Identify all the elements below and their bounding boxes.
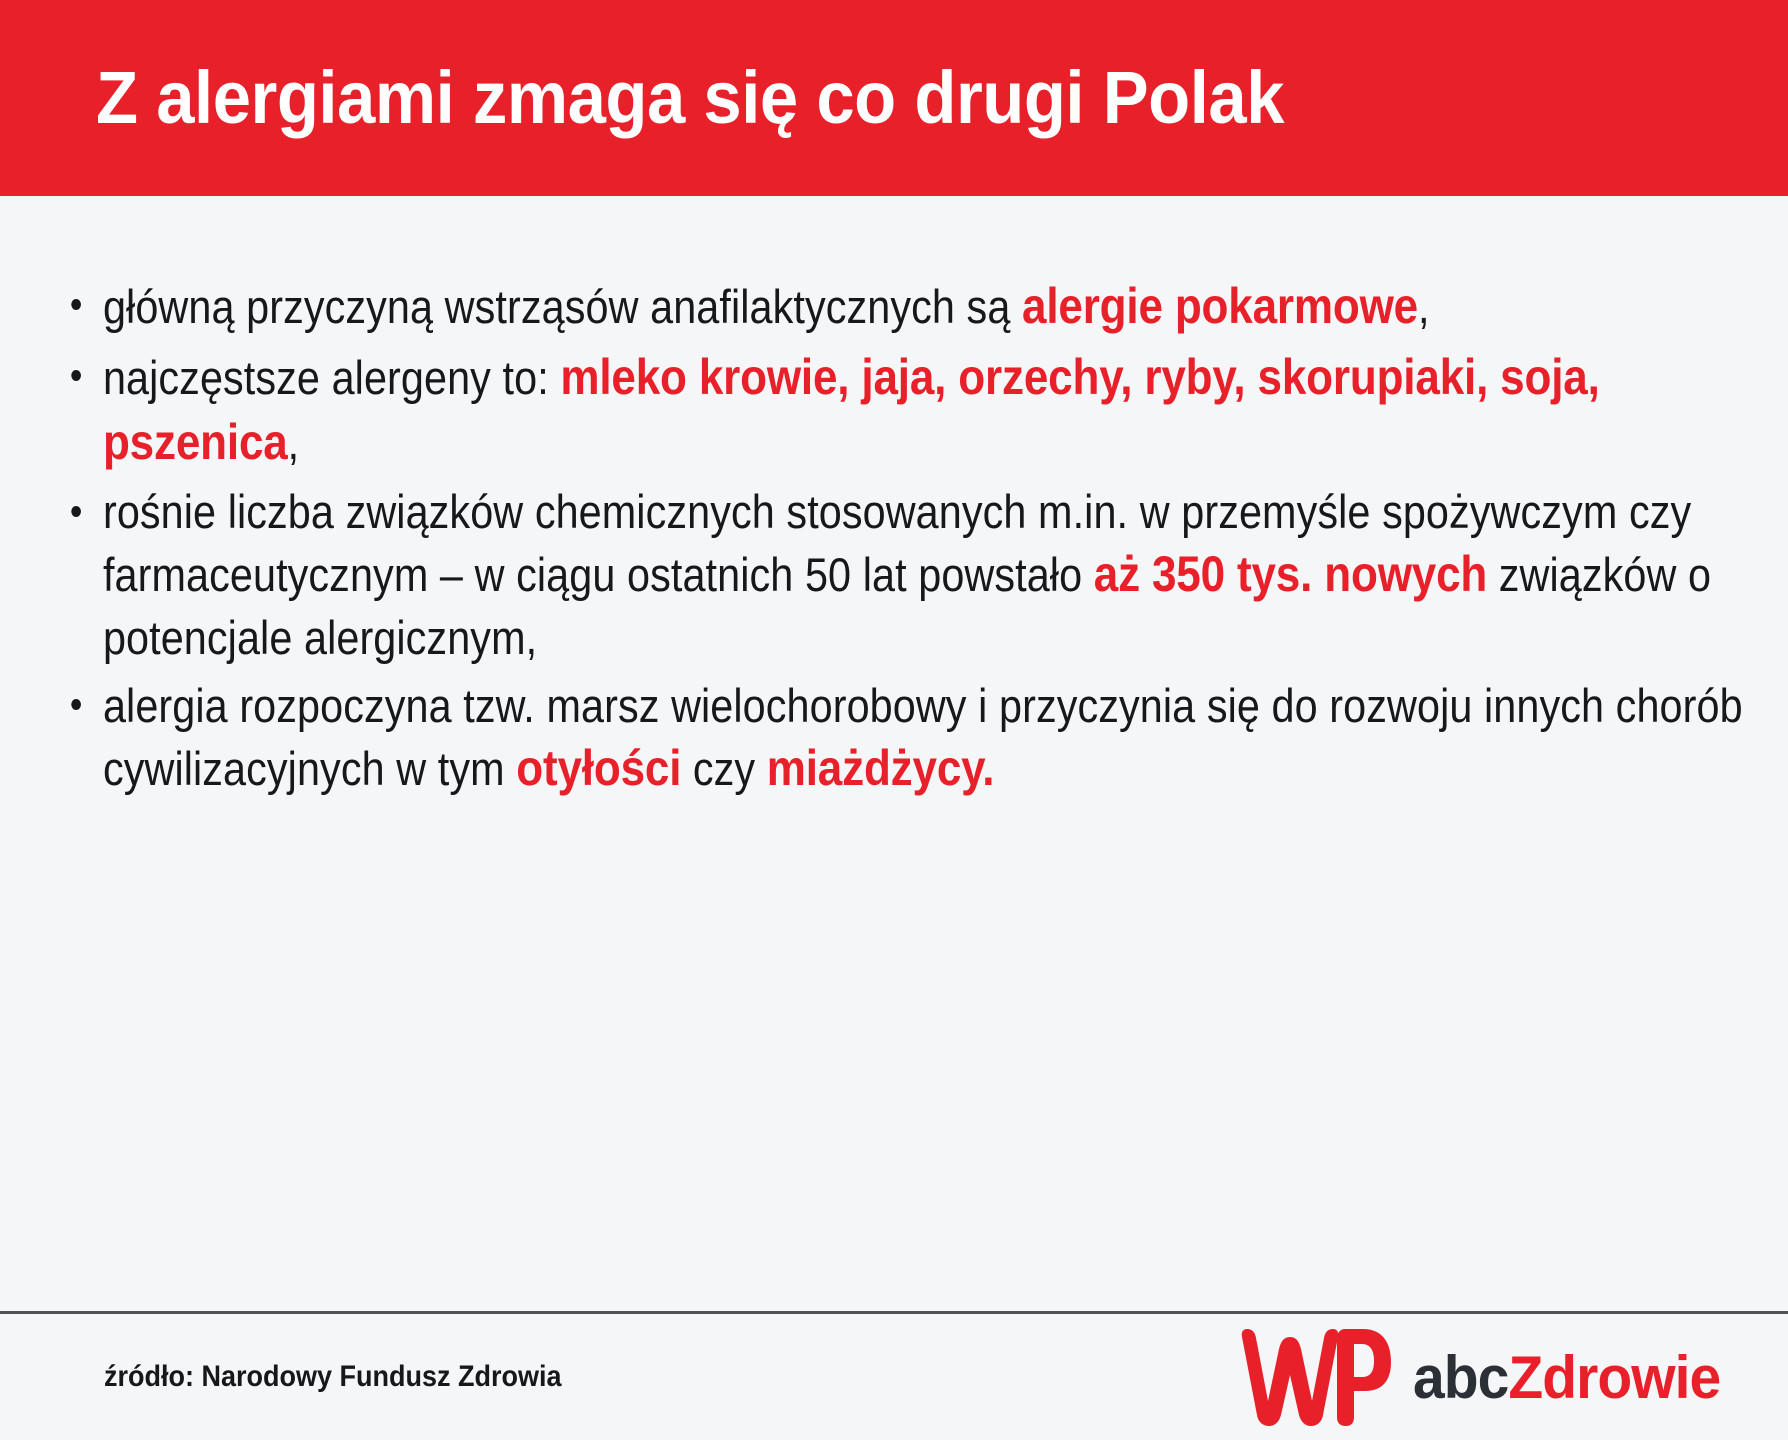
body-text: czy	[681, 742, 766, 795]
highlight-text: miażdżycy.	[767, 740, 995, 796]
bullet-dot-icon	[71, 370, 81, 381]
bullet-alergeny: najczęstsze alergeny to: mleko krowie, j…	[66, 345, 1756, 475]
body-text: główną przyczyną wstrząsów anafilaktyczn…	[103, 280, 1022, 333]
bullet-marsz-alergiczny: alergia rozpoczyna tzw. marsz wielochoro…	[66, 675, 1756, 801]
highlight-text: otyłości	[516, 740, 681, 796]
source-attribution: źródło: Narodowy Fundusz Zdrowia	[104, 1360, 561, 1394]
header-banner: Z alergiami zmaga się co drugi Polak	[0, 0, 1788, 196]
infographic-poster: Z alergiami zmaga się co drugi Polak głó…	[0, 0, 1788, 1440]
body-text: ,	[1418, 280, 1430, 333]
body-text: najczęstsze alergeny to:	[103, 351, 560, 404]
brand-name: abcZdrowie	[1413, 1343, 1720, 1412]
brand-name-abc: abc	[1413, 1344, 1508, 1411]
bullet-zwiazki-chemiczne: rośnie liczba związków chemicznych stoso…	[66, 481, 1756, 668]
brand-logo[interactable]: abcZdrowie	[1241, 1323, 1736, 1432]
bullet-anafilaksja: główną przyczyną wstrząsów anafilaktyczn…	[66, 274, 1756, 339]
highlight-text: alergie pokarmowe	[1022, 278, 1418, 334]
brand-name-zdrowie: Zdrowie	[1508, 1344, 1720, 1411]
highlight-text: aż 350 tys. nowych	[1094, 546, 1487, 602]
bullet-dot-icon	[71, 506, 81, 517]
bullet-list: główną przyczyną wstrząsów anafilaktyczn…	[66, 274, 1728, 801]
page-title: Z alergiami zmaga się co drugi Polak	[96, 61, 1284, 135]
bullet-dot-icon	[71, 299, 81, 310]
footer: źródło: Narodowy Fundusz Zdrowia abcZdro…	[0, 1314, 1788, 1440]
wp-logo-icon	[1241, 1323, 1391, 1432]
content-area: główną przyczyną wstrząsów anafilaktyczn…	[0, 196, 1788, 1311]
body-text: ,	[288, 416, 300, 469]
bullet-dot-icon	[71, 699, 81, 710]
